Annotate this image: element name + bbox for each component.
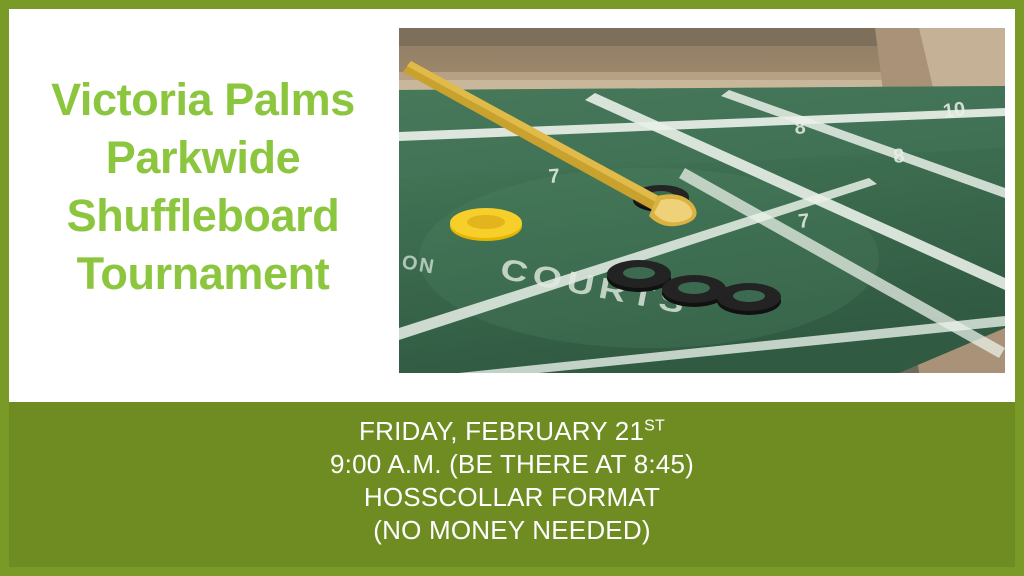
- title-line-3: Shuffleboard: [23, 187, 383, 245]
- details-line-4: (NO MONEY NEEDED): [9, 514, 1015, 547]
- svg-text:8: 8: [794, 116, 807, 139]
- details-date-ordinal: ST: [644, 417, 665, 434]
- details-text: FRIDAY, FEBRUARY 21ST 9:00 A.M. (BE THER…: [9, 415, 1015, 547]
- svg-text:7: 7: [548, 165, 561, 188]
- details-line-2: 9:00 A.M. (BE THERE AT 8:45): [9, 448, 1015, 481]
- svg-text:10: 10: [942, 98, 967, 123]
- slide-root: Victoria Palms Parkwide Shuffleboard Tou…: [0, 0, 1024, 576]
- top-white-area: Victoria Palms Parkwide Shuffleboard Tou…: [9, 9, 1015, 402]
- svg-text:7: 7: [797, 210, 810, 233]
- details-band: FRIDAY, FEBRUARY 21ST 9:00 A.M. (BE THER…: [9, 402, 1015, 567]
- title-line-4: Tournament: [23, 245, 383, 303]
- details-date: FRIDAY, FEBRUARY 21: [359, 416, 644, 446]
- title-block: Victoria Palms Parkwide Shuffleboard Tou…: [23, 71, 383, 303]
- title-line-1: Victoria Palms: [23, 71, 383, 129]
- shuffleboard-court-photo: 10 8 8 7 7 COURTS ON: [399, 28, 1005, 373]
- details-line-1: FRIDAY, FEBRUARY 21ST: [9, 415, 1015, 448]
- details-line-3: HOSSCOLLAR FORMAT: [9, 481, 1015, 514]
- title-line-2: Parkwide: [23, 129, 383, 187]
- svg-text:8: 8: [892, 145, 905, 168]
